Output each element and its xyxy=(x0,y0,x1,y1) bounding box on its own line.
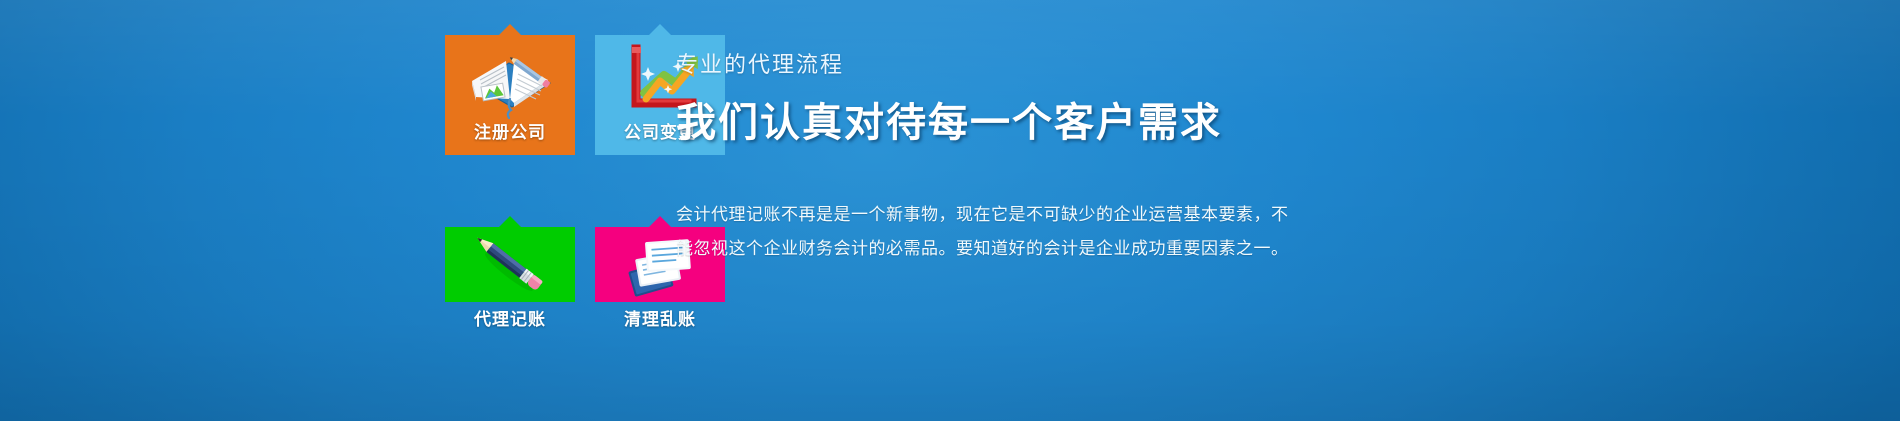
tile-notch-icon xyxy=(649,24,671,35)
tile-label: 代理记账 xyxy=(445,305,575,330)
tile-label: 清理乱账 xyxy=(595,305,725,330)
paragraph-line-2: 能忽视这个企业财务会计的必需品。要知道好的会计是企业成功重要因素之一。 xyxy=(676,232,1236,266)
paragraph-line-1: 会计代理记账不再是是一个新事物，现在它是不可缺少的企业运营基本要素，不 xyxy=(676,198,1236,232)
tile-label: 注册公司 xyxy=(445,118,575,143)
banner-headline: 我们认真对待每一个客户需求 xyxy=(676,100,1676,146)
pencil-icon xyxy=(464,231,556,297)
tile-notch-icon xyxy=(649,216,671,227)
promo-banner: 注册公司 xyxy=(0,0,1900,421)
tile-notch-icon xyxy=(499,216,521,227)
open-book-icon xyxy=(464,41,556,119)
banner-kicker: 专业的代理流程 xyxy=(676,52,1676,78)
tile-body: 代理记账 xyxy=(445,227,575,302)
service-tile-register-company[interactable]: 注册公司 xyxy=(445,35,575,155)
banner-copy: 专业的代理流程 我们认真对待每一个客户需求 xyxy=(676,52,1676,146)
tile-body: 注册公司 xyxy=(445,35,575,155)
banner-paragraph: 会计代理记账不再是是一个新事物，现在它是不可缺少的企业运营基本要素，不 能忽视这… xyxy=(676,198,1236,266)
tile-notch-icon xyxy=(499,24,521,35)
service-tile-bookkeeping[interactable]: 代理记账 xyxy=(445,227,575,302)
